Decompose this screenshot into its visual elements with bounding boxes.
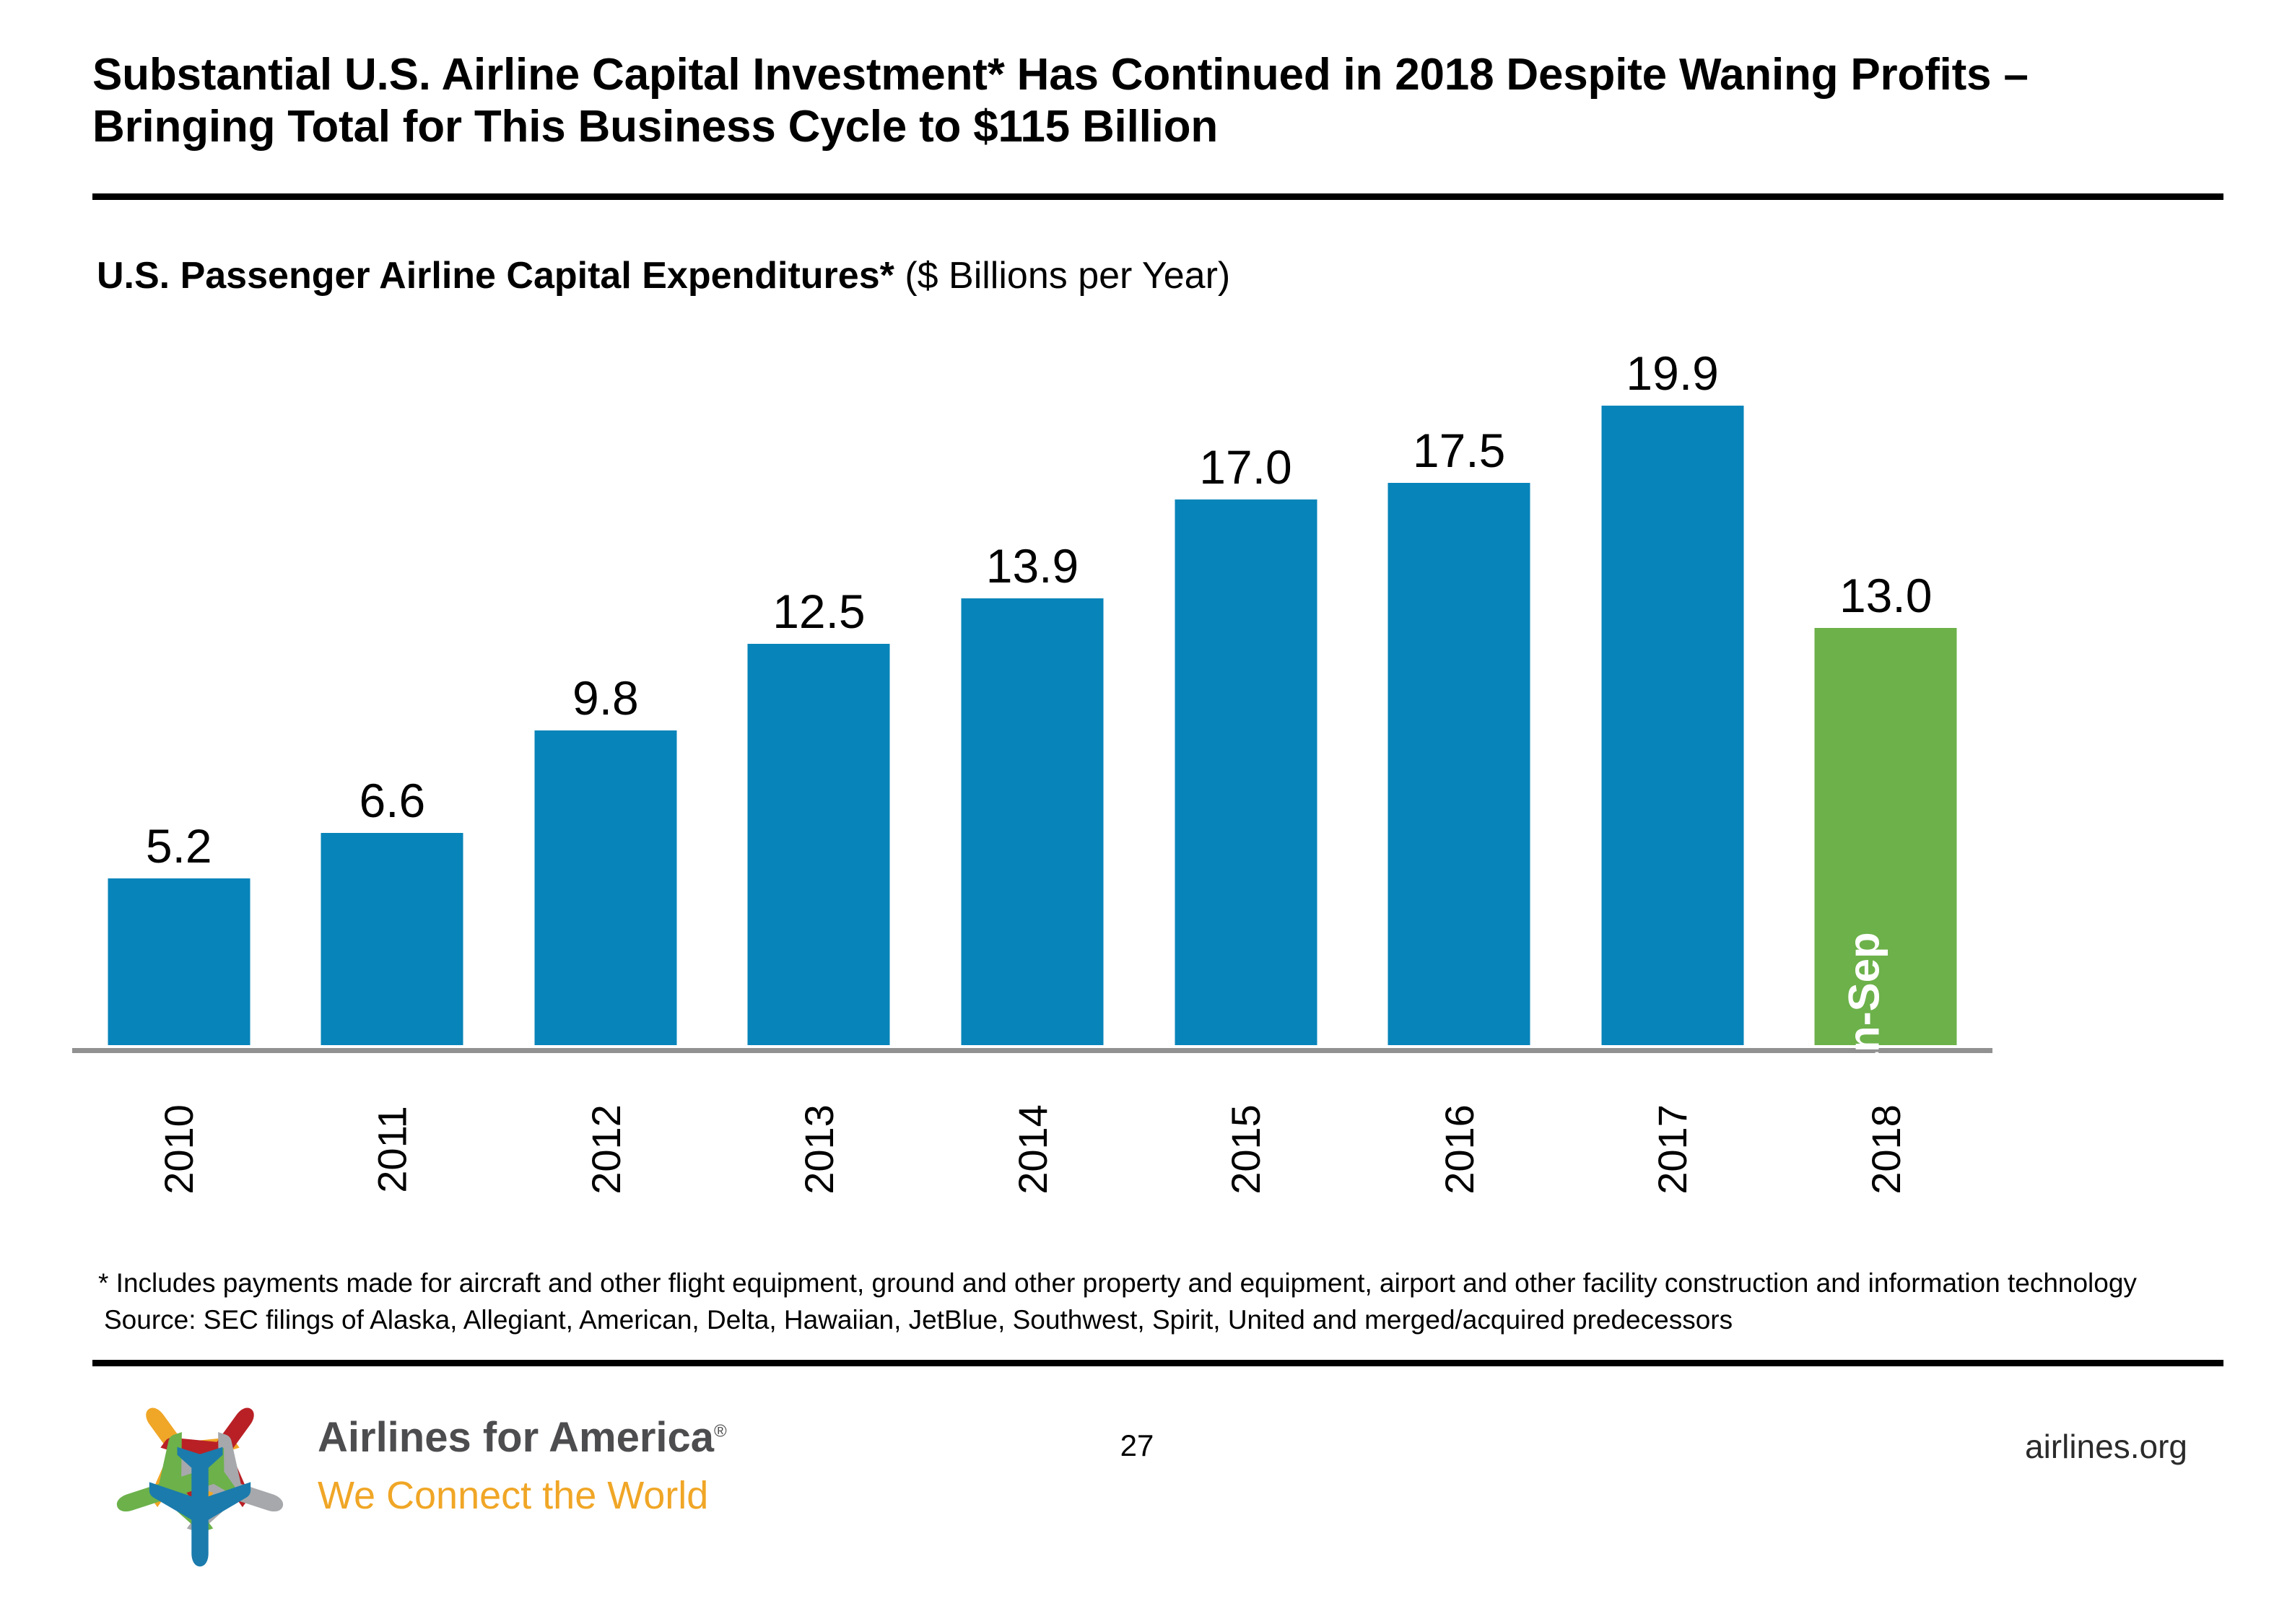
x-axis-label-2018: 2018 <box>1779 1067 1992 1173</box>
x-axis-label-2014: 2014 <box>925 1067 1139 1173</box>
chart-subtitle: U.S. Passenger Airline Capital Expenditu… <box>97 254 1230 297</box>
bar-value-label: 9.8 <box>572 674 639 722</box>
x-axis-label-text: 2017 <box>1649 1104 1696 1195</box>
bar-slot: 17.0 <box>1139 499 1353 1046</box>
bar-slot: 12.5 <box>713 644 926 1045</box>
bar-2011[interactable]: 6.6 <box>321 833 463 1045</box>
bar-slot: 5.2 <box>72 878 286 1045</box>
bar-slot: 13.0Jan-Sep <box>1779 628 1992 1046</box>
bar-value-label: 13.0 <box>1839 572 1932 619</box>
site-url[interactable]: airlines.org <box>2025 1427 2187 1466</box>
chart-subtitle-light: ($ Billions per Year) <box>894 255 1230 297</box>
bar-value-label: 17.5 <box>1413 427 1505 474</box>
bar-2014[interactable]: 13.9 <box>961 598 1103 1045</box>
page-title: Substantial U.S. Airline Capital Investm… <box>92 49 2164 153</box>
x-axis-label-2013: 2013 <box>713 1067 926 1173</box>
x-axis-label-text: 2011 <box>369 1106 416 1192</box>
bar-value-label: 13.9 <box>986 542 1079 590</box>
bar-value-label: 17.0 <box>1199 443 1291 491</box>
bar-2017[interactable]: 19.9 <box>1601 406 1743 1045</box>
airlines-for-america-logo-icon <box>103 1381 297 1576</box>
bar-slot: 13.9 <box>925 598 1139 1045</box>
x-axis-label-2012: 2012 <box>499 1067 713 1173</box>
bar-slot: 19.9 <box>1566 406 1779 1045</box>
logo-tagline: We Connect the World <box>318 1476 727 1515</box>
bar-value-label: 19.9 <box>1626 349 1718 397</box>
bar-slot: 9.8 <box>499 730 713 1045</box>
bar-value-label: 5.2 <box>146 822 212 870</box>
bar-2016[interactable]: 17.5 <box>1388 483 1530 1045</box>
x-axis-label-2010: 2010 <box>72 1067 286 1173</box>
page-number: 27 <box>0 1428 2274 1463</box>
bar-value-label: 6.6 <box>359 777 425 824</box>
x-axis-label-text: 2016 <box>1436 1104 1483 1195</box>
chart-plot-area: 5.220106.620119.8201212.5201313.9201417.… <box>72 310 1992 1050</box>
x-axis-line <box>72 1048 1992 1053</box>
footnote-asterisk: * Includes payments made for aircraft an… <box>98 1265 2206 1301</box>
footnote-source: Source: SEC filings of Alaska, Allegiant… <box>98 1301 2206 1338</box>
x-axis-label-2015: 2015 <box>1139 1067 1353 1173</box>
bar-value-label: 12.5 <box>772 588 865 635</box>
x-axis-label-text: 2015 <box>1222 1104 1269 1195</box>
bar-slot: 6.6 <box>286 833 500 1045</box>
bar-2010[interactable]: 5.2 <box>108 878 250 1045</box>
x-axis-label-2016: 2016 <box>1352 1067 1566 1173</box>
header-divider <box>92 193 2223 200</box>
footer-divider <box>92 1360 2223 1366</box>
bar-2018[interactable]: 13.0Jan-Sep <box>1815 628 1957 1046</box>
x-axis-label-text: 2018 <box>1863 1104 1909 1195</box>
bar-chart: 5.220106.620119.8201212.5201313.9201417.… <box>0 310 2274 1075</box>
bar-slot: 17.5 <box>1352 483 1566 1045</box>
x-axis-label-2011: 2011 <box>286 1067 500 1173</box>
bar-2012[interactable]: 9.8 <box>534 730 676 1045</box>
chart-subtitle-bold: U.S. Passenger Airline Capital Expenditu… <box>97 255 894 297</box>
x-axis-label-text: 2010 <box>155 1104 202 1195</box>
footnotes: * Includes payments made for aircraft an… <box>98 1265 2206 1338</box>
slide-footer: Airlines for America® We Connect the Wor… <box>0 1375 2274 1563</box>
bar-2013[interactable]: 12.5 <box>748 644 890 1045</box>
x-axis-label-2017: 2017 <box>1566 1067 1779 1173</box>
x-axis-label-text: 2014 <box>1009 1104 1055 1195</box>
x-axis-label-text: 2013 <box>796 1104 842 1195</box>
x-axis-label-text: 2012 <box>582 1104 629 1195</box>
slide-root: Substantial U.S. Airline Capital Investm… <box>0 0 2274 1624</box>
bar-2015[interactable]: 17.0 <box>1175 499 1317 1046</box>
